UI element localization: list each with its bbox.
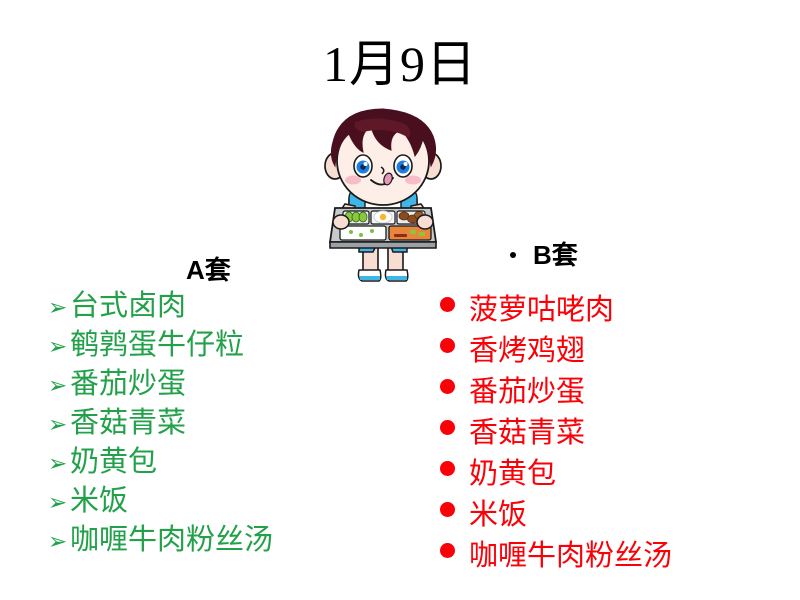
list-item[interactable]: 米饭 bbox=[440, 495, 672, 536]
list-item[interactable]: ➢ 奶黄包 bbox=[48, 444, 273, 483]
arrow-bullet-icon: ➢ bbox=[48, 329, 70, 366]
list-item[interactable]: ➢ 台式卤肉 bbox=[48, 288, 273, 327]
list-item[interactable]: 菠萝咕咾肉 bbox=[440, 290, 672, 331]
arrow-bullet-icon: ➢ bbox=[48, 290, 70, 327]
arrow-bullet-icon: ➢ bbox=[48, 446, 70, 483]
page-title: 1月9日 bbox=[0, 38, 800, 91]
menu-item-label: 奶黄包 bbox=[469, 454, 556, 495]
menu-item-label: 鹌鹑蛋牛仔粒 bbox=[70, 327, 244, 364]
arrow-bullet-icon: ➢ bbox=[48, 524, 70, 561]
list-item[interactable]: 咖喱牛肉粉丝汤 bbox=[440, 536, 672, 577]
set-b-header: B套 bbox=[510, 235, 578, 272]
menu-item-label: 米饭 bbox=[469, 495, 527, 536]
slide-canvas: 1月9日 bbox=[0, 0, 800, 600]
menu-item-label: 番茄炒蛋 bbox=[469, 372, 585, 413]
set-a-menu-list: ➢ 台式卤肉 ➢ 鹌鹑蛋牛仔粒 ➢ 番茄炒蛋 ➢ 香菇青菜 ➢ 奶黄包 ➢ 米饭… bbox=[48, 288, 273, 561]
menu-item-label: 菠萝咕咾肉 bbox=[469, 290, 614, 331]
bullet-dot-icon bbox=[510, 252, 516, 258]
list-item[interactable]: 番茄炒蛋 bbox=[440, 372, 672, 413]
menu-item-label: 香菇青菜 bbox=[469, 413, 585, 454]
arrow-bullet-icon: ➢ bbox=[48, 407, 70, 444]
list-item[interactable]: ➢ 米饭 bbox=[48, 483, 273, 522]
list-item[interactable]: ➢ 鹌鹑蛋牛仔粒 bbox=[48, 327, 273, 366]
set-b-menu-list: 菠萝咕咾肉 香烤鸡翅 番茄炒蛋 香菇青菜 奶黄包 米饭 咖喱牛肉粉丝汤 bbox=[440, 290, 672, 577]
list-item[interactable]: 香菇青菜 bbox=[440, 413, 672, 454]
dot-bullet-icon bbox=[440, 297, 455, 312]
menu-item-label: 台式卤肉 bbox=[70, 288, 186, 325]
dot-bullet-icon bbox=[440, 420, 455, 435]
menu-item-label: 香烤鸡翅 bbox=[469, 331, 585, 372]
dot-bullet-icon bbox=[440, 461, 455, 476]
dot-bullet-icon bbox=[440, 338, 455, 353]
menu-item-label: 咖喱牛肉粉丝汤 bbox=[469, 536, 672, 577]
list-item[interactable]: 香烤鸡翅 bbox=[440, 331, 672, 372]
menu-item-label: 米饭 bbox=[70, 483, 128, 520]
dot-bullet-icon bbox=[440, 502, 455, 517]
set-a-header: A套 bbox=[186, 250, 231, 287]
list-item[interactable]: ➢ 番茄炒蛋 bbox=[48, 366, 273, 405]
list-item[interactable]: 奶黄包 bbox=[440, 454, 672, 495]
list-item[interactable]: ➢ 咖喱牛肉粉丝汤 bbox=[48, 522, 273, 561]
menu-item-label: 香菇青菜 bbox=[70, 405, 186, 442]
menu-item-label: 奶黄包 bbox=[70, 444, 157, 481]
dot-bullet-icon bbox=[440, 543, 455, 558]
cartoon-boy-with-lunch-tray-image bbox=[293, 104, 473, 286]
set-b-header-label: B套 bbox=[533, 240, 578, 270]
menu-item-label: 咖喱牛肉粉丝汤 bbox=[70, 522, 273, 559]
dot-bullet-icon bbox=[440, 379, 455, 394]
arrow-bullet-icon: ➢ bbox=[48, 485, 70, 522]
menu-item-label: 番茄炒蛋 bbox=[70, 366, 186, 403]
list-item[interactable]: ➢ 香菇青菜 bbox=[48, 405, 273, 444]
arrow-bullet-icon: ➢ bbox=[48, 368, 70, 405]
